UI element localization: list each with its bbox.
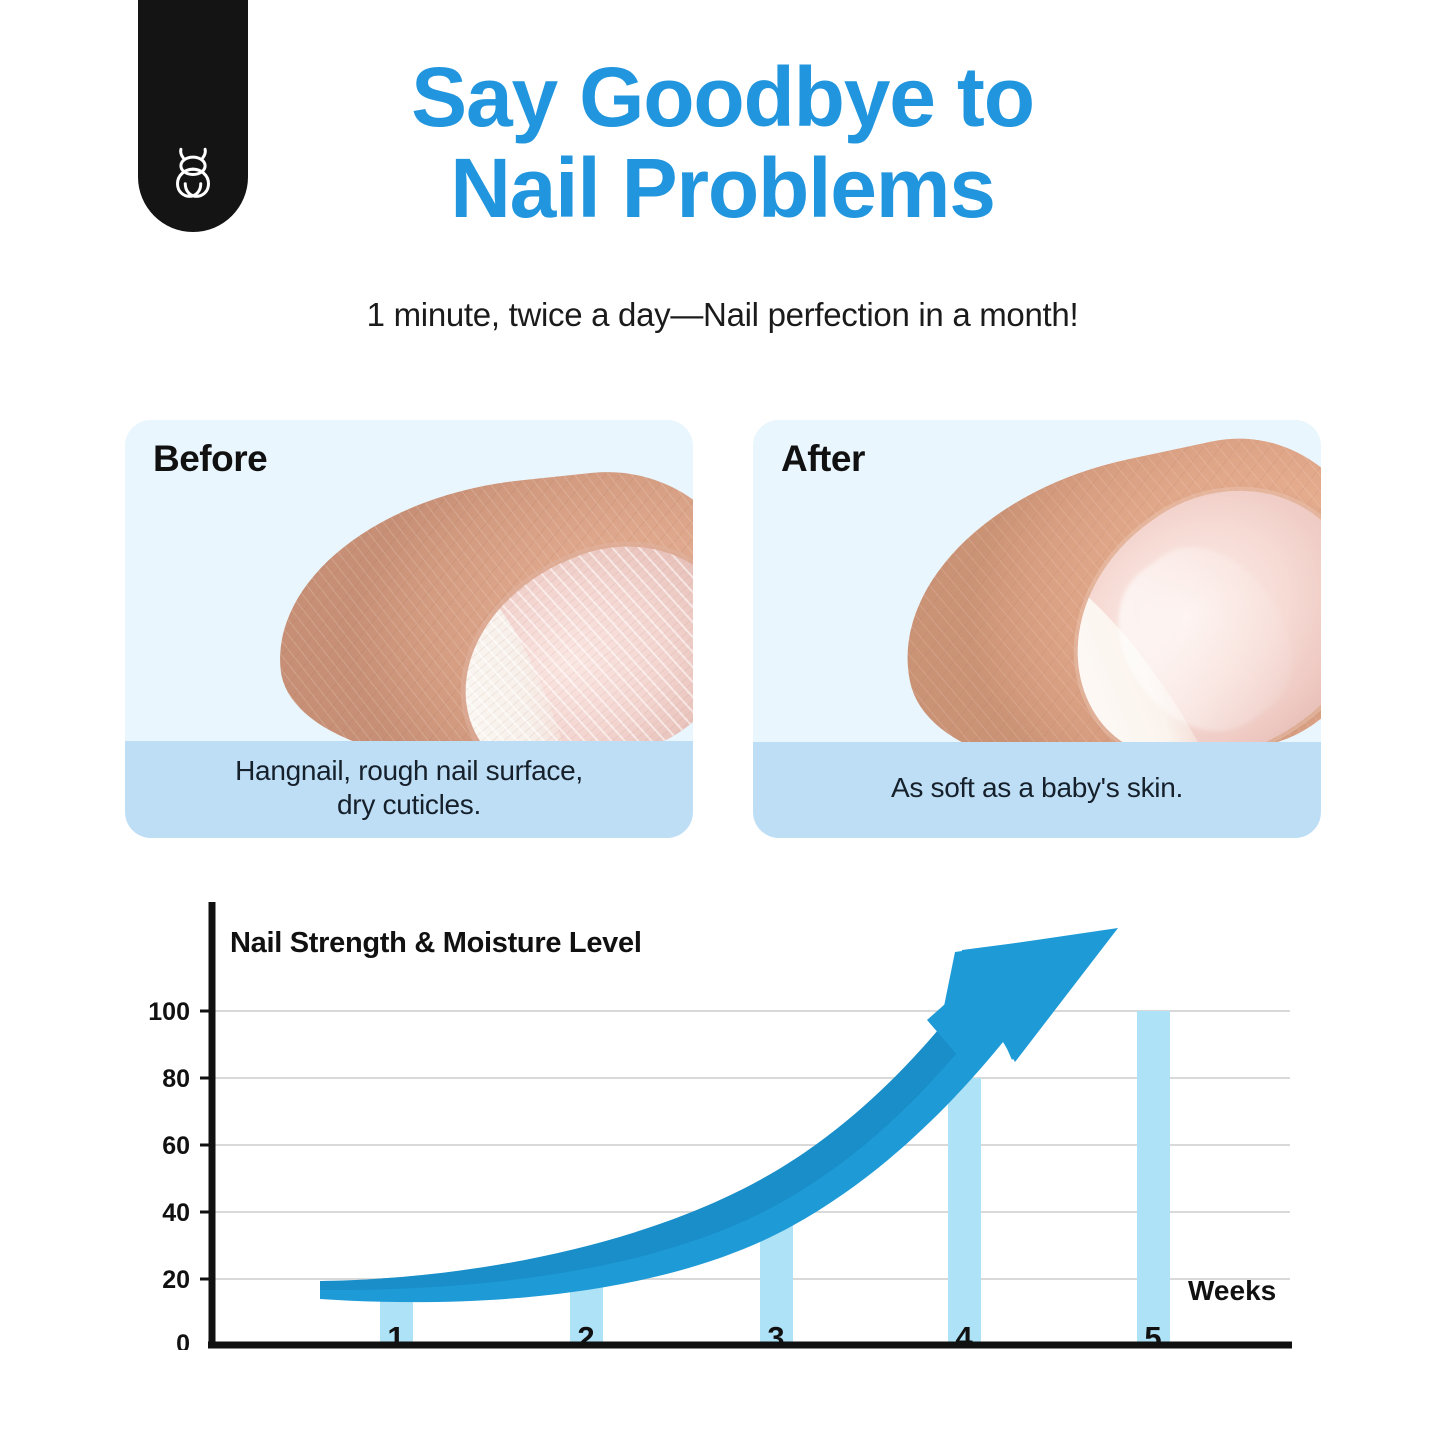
after-caption: As soft as a baby's skin. (753, 742, 1321, 838)
x-label-3: 3 (746, 1320, 806, 1356)
after-card: After As soft as a baby's skin. (753, 420, 1321, 838)
y-axis-labels: 100 80 60 40 20 0 (148, 998, 190, 1350)
growth-chart: Nail Strength & Moisture Level 100 80 60… (0, 880, 1445, 1350)
y-tick-label-80: 80 (162, 1065, 190, 1093)
before-caption-line-1: Hangnail, rough nail surface, (135, 754, 683, 788)
healthy-nail-illustration (874, 420, 1321, 742)
bar-week-5 (1137, 1011, 1170, 1346)
chart-canvas: Nail Strength & Moisture Level 100 80 60… (0, 880, 1445, 1350)
y-tick-label-60: 60 (162, 1132, 190, 1160)
before-photo: Before (125, 420, 693, 741)
chart-title: Nail Strength & Moisture Level (230, 927, 642, 959)
y-tick-label-20: 20 (162, 1266, 190, 1294)
before-caption-line-2: dry cuticles. (135, 788, 683, 822)
y-tick-label-40: 40 (162, 1199, 190, 1227)
upward-growth-arrow (320, 928, 1118, 1302)
y-tick-label-100: 100 (148, 998, 190, 1026)
before-card: Before Hangnail, rough nail surface, dry… (125, 420, 693, 838)
x-label-5: 5 (1123, 1320, 1183, 1356)
before-label: Before (153, 438, 267, 480)
x-label-1: 1 (366, 1320, 426, 1356)
x-axis-title: Weeks (1188, 1275, 1276, 1306)
before-caption: Hangnail, rough nail surface, dry cuticl… (125, 741, 693, 838)
page-subtitle: 1 minute, twice a day—Nail perfection in… (0, 296, 1445, 334)
headline-line-1: Say Goodbye to (0, 52, 1445, 143)
x-label-4: 4 (934, 1320, 994, 1356)
before-after-comparison: Before Hangnail, rough nail surface, dry… (125, 420, 1321, 838)
headline-line-2: Nail Problems (0, 143, 1445, 234)
x-label-2: 2 (556, 1320, 616, 1356)
nail-plate-smooth (1023, 438, 1321, 742)
nail-plate-rough (428, 509, 693, 740)
after-photo: After (753, 420, 1321, 742)
x-axis-label-row: 1 2 3 4 5 (0, 1320, 1445, 1380)
damaged-nail-illustration (264, 458, 693, 740)
after-caption-text: As soft as a baby's skin. (891, 771, 1183, 805)
after-label: After (781, 438, 865, 480)
bar-week-4 (948, 1078, 981, 1346)
page-title: Say Goodbye to Nail Problems (0, 52, 1445, 233)
